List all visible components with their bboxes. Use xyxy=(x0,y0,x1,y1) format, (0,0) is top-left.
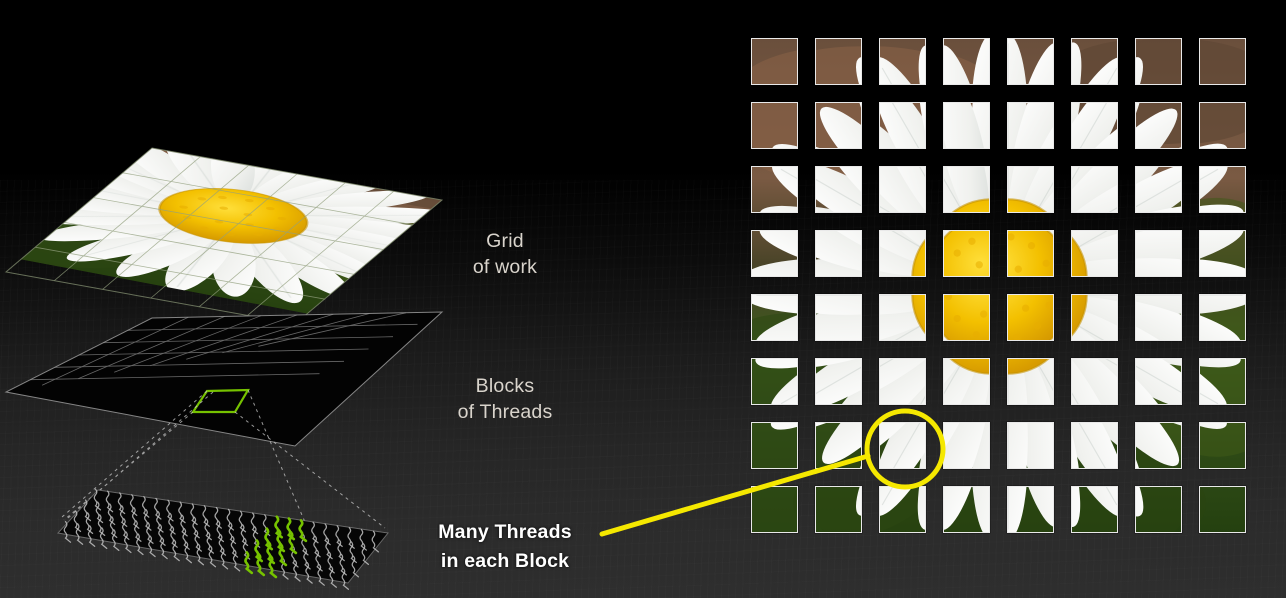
slide-canvas: Grid of work Blocks of Threads Many Thre… xyxy=(0,0,1286,598)
mosaic-tile[interactable] xyxy=(1007,358,1054,405)
mosaic-tile[interactable] xyxy=(751,166,798,213)
threads-plane-surface xyxy=(58,490,388,583)
mosaic-tile[interactable] xyxy=(943,294,990,341)
mosaic-tile[interactable] xyxy=(815,166,862,213)
mosaic-tile[interactable] xyxy=(1071,102,1118,149)
mosaic-tile[interactable] xyxy=(815,38,862,85)
mosaic-tile[interactable] xyxy=(943,358,990,405)
mosaic-tile[interactable] xyxy=(751,102,798,149)
mosaic-tile[interactable] xyxy=(1199,486,1246,533)
mosaic-tile[interactable] xyxy=(751,38,798,85)
mosaic-tile[interactable] xyxy=(1007,166,1054,213)
mosaic-tile[interactable] xyxy=(1007,38,1054,85)
blocks-plane xyxy=(6,312,442,446)
mosaic-tile[interactable] xyxy=(1071,38,1118,85)
mosaic-tile[interactable] xyxy=(751,294,798,341)
annotation-circle[interactable] xyxy=(867,411,943,487)
mosaic-tile[interactable] xyxy=(1007,294,1054,341)
mosaic-tile[interactable] xyxy=(1199,230,1246,277)
mosaic-tile[interactable] xyxy=(1199,166,1246,213)
mosaic-tile[interactable] xyxy=(815,358,862,405)
mosaic-tile[interactable] xyxy=(1135,294,1182,341)
mosaic-tile[interactable] xyxy=(815,102,862,149)
mosaic-tile[interactable] xyxy=(1135,486,1182,533)
mosaic-tile[interactable] xyxy=(1199,102,1246,149)
mosaic-tile[interactable] xyxy=(1071,294,1118,341)
mosaic-tile[interactable] xyxy=(879,102,926,149)
mosaic-tile[interactable] xyxy=(1199,294,1246,341)
mosaic-tile[interactable] xyxy=(1135,422,1182,469)
mosaic-tile[interactable] xyxy=(1071,230,1118,277)
mosaic-tile[interactable] xyxy=(1007,486,1054,533)
mosaic-tile[interactable] xyxy=(879,294,926,341)
mosaic-tile[interactable] xyxy=(1007,102,1054,149)
mosaic-tile[interactable] xyxy=(751,358,798,405)
threads-plane xyxy=(58,489,388,589)
mosaic-tile[interactable] xyxy=(1071,166,1118,213)
annotation-leader-line xyxy=(602,456,868,534)
mosaic-tile[interactable] xyxy=(815,294,862,341)
mosaic-tile[interactable] xyxy=(943,230,990,277)
mosaic-tile[interactable] xyxy=(1199,358,1246,405)
label-grid-of-work: Grid of work xyxy=(404,228,606,280)
mosaic-tile[interactable] xyxy=(1135,102,1182,149)
mosaic-tile[interactable] xyxy=(1007,230,1054,277)
mosaic-tile[interactable] xyxy=(943,102,990,149)
mosaic-tile[interactable] xyxy=(879,230,926,277)
mosaic-tile[interactable] xyxy=(1135,38,1182,85)
mosaic-tile[interactable] xyxy=(815,230,862,277)
mosaic-tile[interactable] xyxy=(1071,358,1118,405)
mosaic-tile[interactable] xyxy=(1135,230,1182,277)
mosaic-tile[interactable] xyxy=(943,38,990,85)
mosaic-tile[interactable] xyxy=(879,166,926,213)
mosaic-tile[interactable] xyxy=(943,166,990,213)
mosaic-tile[interactable] xyxy=(1071,486,1118,533)
cuda-decomposition-diagram xyxy=(0,0,460,598)
mosaic-tile[interactable] xyxy=(751,230,798,277)
mosaic-tile[interactable] xyxy=(879,358,926,405)
mosaic-tile[interactable] xyxy=(1199,38,1246,85)
mosaic-tile[interactable] xyxy=(1135,358,1182,405)
mosaic-tile[interactable] xyxy=(1071,422,1118,469)
mosaic-tile[interactable] xyxy=(879,38,926,85)
mosaic-tile[interactable] xyxy=(1199,422,1246,469)
yellow-annotation xyxy=(560,400,980,560)
mosaic-tile[interactable] xyxy=(1007,422,1054,469)
mosaic-tile[interactable] xyxy=(1135,166,1182,213)
